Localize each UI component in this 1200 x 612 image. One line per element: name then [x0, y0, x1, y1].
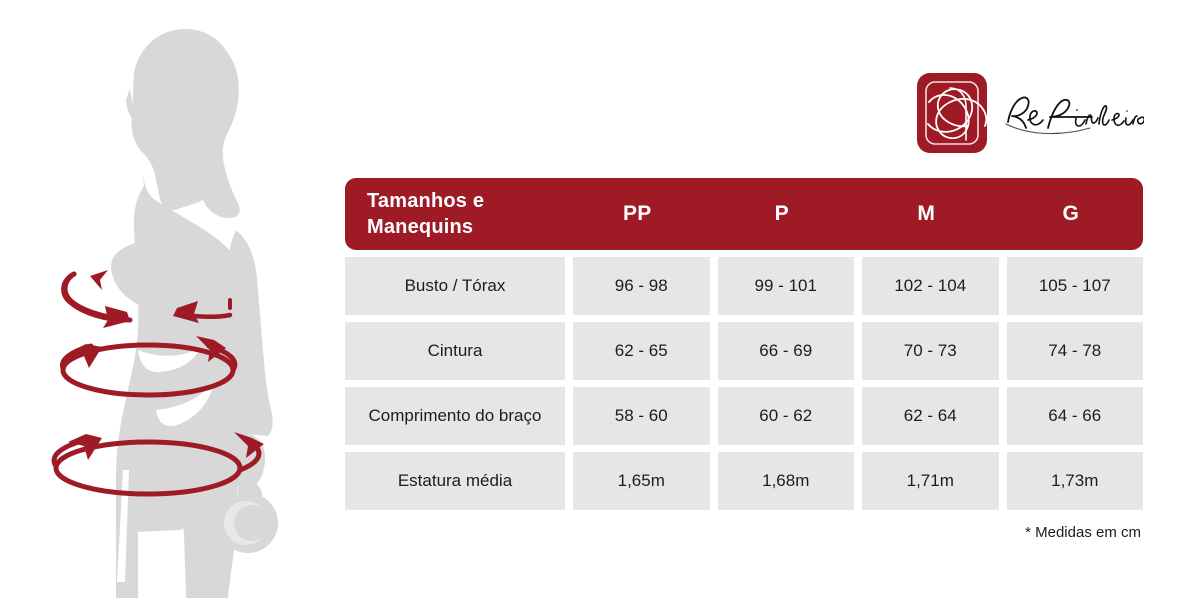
table-header-row: Tamanhos e Manequins PP P M G	[345, 178, 1143, 250]
size-chart-table: Tamanhos e Manequins PP P M G Busto / Tó…	[345, 178, 1143, 541]
row-value-m: 70 - 73	[862, 322, 999, 380]
brand-wordmark: Re Pinheiro	[1004, 84, 1144, 142]
row-label: Comprimento do braço	[345, 387, 565, 445]
table-footnote: * Medidas em cm	[345, 524, 1143, 541]
row-value-g: 1,73m	[1007, 452, 1144, 510]
silhouette-svg	[30, 18, 330, 598]
row-label: Estatura média	[345, 452, 565, 510]
row-value-p: 66 - 69	[718, 322, 855, 380]
table-row: Comprimento do braço 58 - 60 60 - 62 62 …	[345, 387, 1143, 445]
dumbbell-icon	[218, 493, 278, 553]
row-value-p: 99 - 101	[718, 257, 855, 315]
row-value-g: 105 - 107	[1007, 257, 1144, 315]
row-value-g: 64 - 66	[1007, 387, 1144, 445]
brand-logo: Re Pinheiro	[916, 68, 1146, 158]
table-row: Cintura 62 - 65 66 - 69 70 - 73 74 - 78	[345, 322, 1143, 380]
row-value-pp: 58 - 60	[573, 387, 710, 445]
table-header-size-m: M	[854, 202, 999, 226]
table-header-title: Tamanhos e Manequins	[345, 188, 565, 241]
female-body-measurement-illustration	[30, 18, 330, 598]
table-header-size-p: P	[710, 202, 855, 226]
table-header-size-pp: PP	[565, 202, 710, 226]
row-value-m: 1,71m	[862, 452, 999, 510]
row-value-m: 102 - 104	[862, 257, 999, 315]
row-value-p: 1,68m	[718, 452, 855, 510]
row-value-m: 62 - 64	[862, 387, 999, 445]
table-row: Estatura média 1,65m 1,68m 1,71m 1,73m	[345, 452, 1143, 510]
row-value-pp: 1,65m	[573, 452, 710, 510]
table-body: Busto / Tórax 96 - 98 99 - 101 102 - 104…	[345, 257, 1143, 510]
row-label: Cintura	[345, 322, 565, 380]
re-pinheiro-monogram-icon	[916, 72, 988, 154]
row-value-g: 74 - 78	[1007, 322, 1144, 380]
row-value-pp: 62 - 65	[573, 322, 710, 380]
row-label: Busto / Tórax	[345, 257, 565, 315]
table-header-size-g: G	[999, 202, 1144, 226]
bust-arrow-right-shaft	[178, 314, 230, 317]
row-value-p: 60 - 62	[718, 387, 855, 445]
table-row: Busto / Tórax 96 - 98 99 - 101 102 - 104…	[345, 257, 1143, 315]
row-value-pp: 96 - 98	[573, 257, 710, 315]
